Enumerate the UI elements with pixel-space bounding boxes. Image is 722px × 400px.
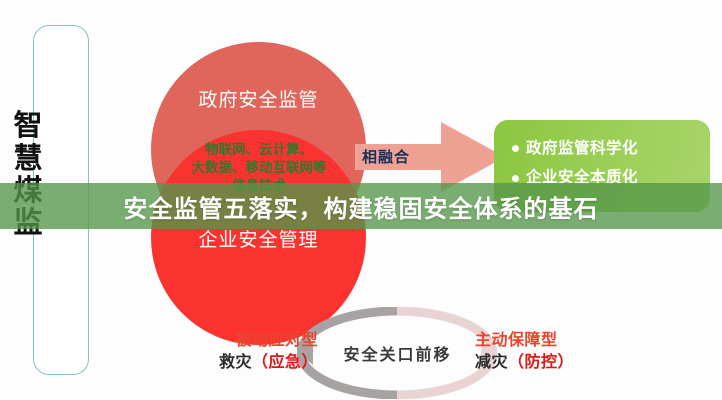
result-item-1: 政府监管科学化	[512, 134, 710, 163]
venn-circle-government-label: 政府安全监管	[151, 85, 366, 112]
transition-left-top: 被动应对型	[173, 330, 318, 352]
transition-right-label: 主动保障型 减灾（防控）	[475, 330, 620, 374]
transition-left-bottom-plain: 救灾	[219, 354, 252, 371]
transition-right-bottom-accent: （防控）	[508, 354, 574, 371]
bullet-dot-icon	[512, 145, 519, 152]
infographic-canvas: 智 慧 煤 监 政府安全监管 物联网、云计算、 大数据、移动互联网等 信息技术 …	[0, 0, 722, 400]
transition-right-bottom: 减灾（防控）	[475, 352, 620, 374]
transition-left-bottom: 救灾（应急）	[173, 352, 318, 374]
cycle-center-label: 安全关口前移	[330, 341, 465, 365]
left-panel-char-2: 慧	[13, 143, 42, 175]
left-vertical-panel-label: 智 慧 煤 监	[0, 0, 56, 350]
transition-right-bottom-plain: 减灾	[475, 354, 508, 371]
transition-left-bottom-accent: （应急）	[252, 354, 318, 371]
venn-circle-enterprise-label: 企业安全管理	[151, 225, 366, 252]
bullet-dot-icon	[512, 175, 519, 182]
transition-right-top: 主动保障型	[475, 330, 620, 352]
venn-overlap-line-1: 物联网、云计算、	[178, 141, 340, 159]
transition-left-label: 被动应对型 救灾（应急）	[173, 330, 318, 374]
merge-arrow-label: 相融合	[362, 146, 410, 167]
left-panel-char-1: 智	[13, 110, 42, 142]
overlay-banner-text: 安全监管五落实，构建稳固安全体系的基石	[0, 183, 722, 229]
venn-overlap-line-2: 大数据、移动互联网等	[178, 159, 340, 177]
result-item-1-label: 政府监管科学化	[526, 134, 638, 163]
